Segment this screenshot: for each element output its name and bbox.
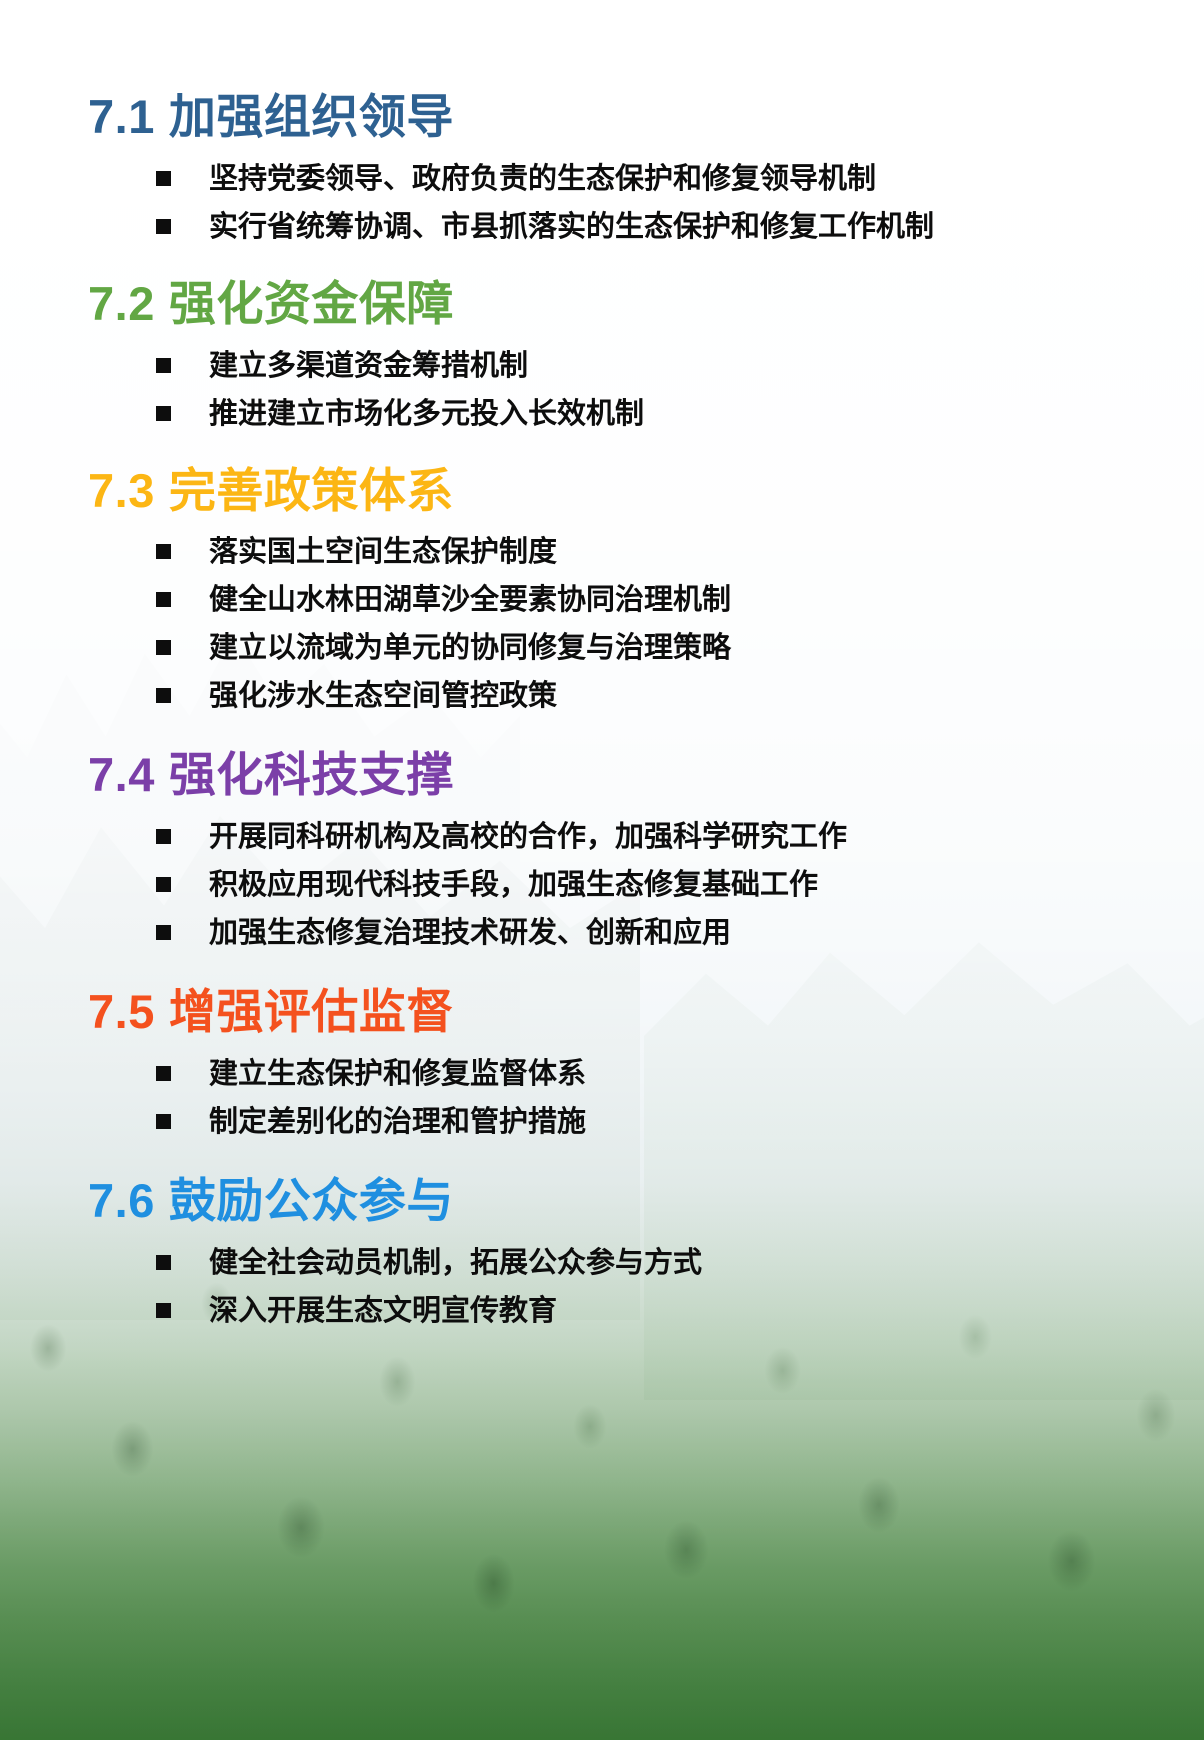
section-7-3-heading: 7.3完善政策体系: [0, 448, 1204, 517]
section-7-2: 7.2强化资金保障 建立多渠道资金筹措机制 推进建立市场化多元投入长效机制: [0, 261, 1204, 429]
section-7-4-bullet-list: 开展同科研机构及高校的合作，加强科学研究工作 积极应用现代科技手段，加强生态修复…: [0, 801, 1204, 948]
square-bullet-icon: [156, 640, 171, 655]
bullet-text: 建立多渠道资金筹措机制: [209, 352, 528, 381]
square-bullet-icon: [156, 1114, 171, 1129]
square-bullet-icon: [156, 688, 171, 703]
section-7-6-number: 7.6: [88, 1174, 155, 1227]
section-7-1-heading: 7.1加强组织领导: [0, 0, 1204, 143]
square-bullet-icon: [156, 1066, 171, 1081]
slide-canvas: 7.1加强组织领导 坚持党委领导、政府负责的生态保护和修复领导机制 实行省统筹协…: [0, 0, 1204, 1740]
bullet-text: 健全社会动员机制，拓展公众参与方式: [209, 1249, 702, 1278]
section-7-1-number: 7.1: [88, 90, 155, 143]
bullet-text: 制定差别化的治理和管护措施: [209, 1108, 586, 1137]
section-7-4-number: 7.4: [88, 748, 155, 801]
list-item: 落实国土空间生态保护制度: [156, 538, 1204, 567]
section-7-2-heading: 7.2强化资金保障: [0, 261, 1204, 330]
slide-content: 7.1加强组织领导 坚持党委领导、政府负责的生态保护和修复领导机制 实行省统筹协…: [0, 0, 1204, 1740]
square-bullet-icon: [156, 544, 171, 559]
section-7-5-title: 增强评估监督: [169, 985, 454, 1038]
bullet-text: 开展同科研机构及高校的合作，加强科学研究工作: [209, 823, 847, 852]
bullet-text: 实行省统筹协调、市县抓落实的生态保护和修复工作机制: [209, 213, 934, 242]
list-item: 健全山水林田湖草沙全要素协同治理机制: [156, 586, 1204, 615]
square-bullet-icon: [156, 1303, 171, 1318]
section-7-3-number: 7.3: [88, 464, 155, 517]
bullet-text: 深入开展生态文明宣传教育: [209, 1297, 557, 1326]
section-7-3-bullet-list: 落实国土空间生态保护制度 健全山水林田湖草沙全要素协同治理机制 建立以流域为单元…: [0, 516, 1204, 711]
square-bullet-icon: [156, 925, 171, 940]
list-item: 积极应用现代科技手段，加强生态修复基础工作: [156, 871, 1204, 900]
section-7-1-title: 加强组织领导: [169, 90, 454, 143]
square-bullet-icon: [156, 877, 171, 892]
list-item: 健全社会动员机制，拓展公众参与方式: [156, 1249, 1204, 1278]
bullet-text: 积极应用现代科技手段，加强生态修复基础工作: [209, 871, 818, 900]
bullet-text: 推进建立市场化多元投入长效机制: [209, 400, 644, 429]
square-bullet-icon: [156, 406, 171, 421]
section-7-6: 7.6鼓励公众参与 健全社会动员机制，拓展公众参与方式 深入开展生态文明宣传教育: [0, 1156, 1204, 1326]
section-7-6-title: 鼓励公众参与: [169, 1174, 454, 1227]
section-7-5-bullet-list: 建立生态保护和修复监督体系 制定差别化的治理和管护措施: [0, 1038, 1204, 1137]
section-7-1: 7.1加强组织领导 坚持党委领导、政府负责的生态保护和修复领导机制 实行省统筹协…: [0, 0, 1204, 242]
section-7-2-number: 7.2: [88, 277, 155, 330]
section-7-6-bullet-list: 健全社会动员机制，拓展公众参与方式 深入开展生态文明宣传教育: [0, 1227, 1204, 1326]
square-bullet-icon: [156, 592, 171, 607]
square-bullet-icon: [156, 1255, 171, 1270]
bullet-text: 建立以流域为单元的协同修复与治理策略: [209, 634, 731, 663]
bullet-text: 坚持党委领导、政府负责的生态保护和修复领导机制: [209, 165, 876, 194]
list-item: 建立以流域为单元的协同修复与治理策略: [156, 634, 1204, 663]
bullet-text: 建立生态保护和修复监督体系: [209, 1060, 586, 1089]
section-7-4-title: 强化科技支撑: [169, 748, 454, 801]
list-item: 实行省统筹协调、市县抓落实的生态保护和修复工作机制: [156, 213, 1204, 242]
list-item: 强化涉水生态空间管控政策: [156, 682, 1204, 711]
square-bullet-icon: [156, 358, 171, 373]
section-7-2-bullet-list: 建立多渠道资金筹措机制 推进建立市场化多元投入长效机制: [0, 330, 1204, 429]
bullet-text: 落实国土空间生态保护制度: [209, 538, 557, 567]
square-bullet-icon: [156, 829, 171, 844]
square-bullet-icon: [156, 219, 171, 234]
list-item: 推进建立市场化多元投入长效机制: [156, 400, 1204, 429]
section-7-3-title: 完善政策体系: [169, 464, 454, 517]
section-7-5-number: 7.5: [88, 985, 155, 1038]
section-7-2-title: 强化资金保障: [169, 277, 454, 330]
section-7-3: 7.3完善政策体系 落实国土空间生态保护制度 健全山水林田湖草沙全要素协同治理机…: [0, 448, 1204, 712]
section-7-1-bullet-list: 坚持党委领导、政府负责的生态保护和修复领导机制 实行省统筹协调、市县抓落实的生态…: [0, 143, 1204, 242]
list-item: 建立生态保护和修复监督体系: [156, 1060, 1204, 1089]
section-7-6-heading: 7.6鼓励公众参与: [0, 1156, 1204, 1227]
list-item: 加强生态修复治理技术研发、创新和应用: [156, 919, 1204, 948]
list-item: 建立多渠道资金筹措机制: [156, 352, 1204, 381]
bullet-text: 健全山水林田湖草沙全要素协同治理机制: [209, 586, 731, 615]
square-bullet-icon: [156, 171, 171, 186]
section-7-4: 7.4强化科技支撑 开展同科研机构及高校的合作，加强科学研究工作 积极应用现代科…: [0, 730, 1204, 948]
list-item: 坚持党委领导、政府负责的生态保护和修复领导机制: [156, 165, 1204, 194]
section-7-4-heading: 7.4强化科技支撑: [0, 730, 1204, 801]
section-7-5: 7.5增强评估监督 建立生态保护和修复监督体系 制定差别化的治理和管护措施: [0, 967, 1204, 1137]
list-item: 深入开展生态文明宣传教育: [156, 1297, 1204, 1326]
list-item: 开展同科研机构及高校的合作，加强科学研究工作: [156, 823, 1204, 852]
list-item: 制定差别化的治理和管护措施: [156, 1108, 1204, 1137]
section-7-5-heading: 7.5增强评估监督: [0, 967, 1204, 1038]
bullet-text: 加强生态修复治理技术研发、创新和应用: [209, 919, 731, 948]
bullet-text: 强化涉水生态空间管控政策: [209, 682, 557, 711]
